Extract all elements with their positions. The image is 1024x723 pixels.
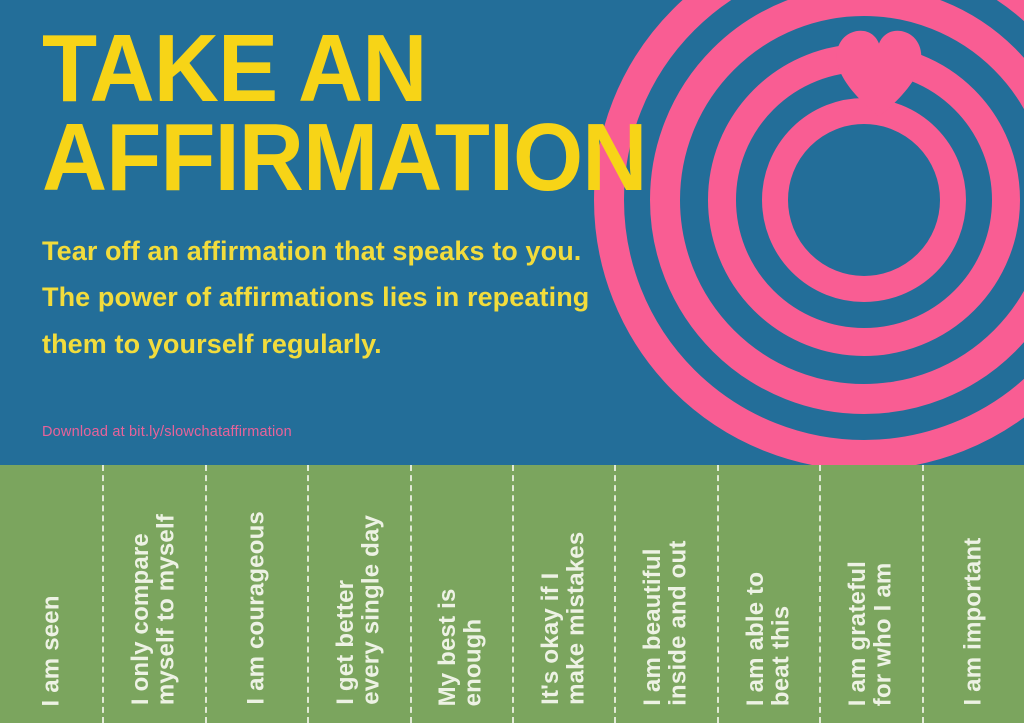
affirmation-text: I am courageous: [243, 511, 268, 705]
heart-icon: [833, 28, 925, 120]
intro-line-1: Tear off an affirmation that speaks to y…: [42, 228, 742, 274]
header-panel: TAKE AN AFFIRMATION Tear off an affirmat…: [0, 0, 1024, 465]
tear-off-strip[interactable]: I am grateful for who I am: [819, 465, 921, 723]
affirmation-text: My best is enough: [435, 589, 486, 707]
tear-off-strip[interactable]: I am courageous: [205, 465, 307, 723]
tear-off-strip[interactable]: I only compare myself to myself: [102, 465, 204, 723]
affirmation-text: I am able to beat this: [743, 572, 794, 706]
affirmation-text: It's okay if I make mistakes: [538, 532, 589, 705]
affirmation-text: I am beautiful inside and out: [640, 540, 691, 705]
affirmation-text: I get better every single day: [333, 515, 384, 705]
tear-off-strip[interactable]: I get better every single day: [307, 465, 409, 723]
download-link[interactable]: Download at bit.ly/slowchataffirmation: [42, 424, 292, 440]
tear-off-strips: I am seen I only compare myself to mysel…: [0, 465, 1024, 723]
page-title: TAKE AN AFFIRMATION: [42, 24, 756, 203]
tear-off-strip[interactable]: My best is enough: [410, 465, 512, 723]
tear-off-strip[interactable]: I am beautiful inside and out: [614, 465, 716, 723]
intro-line-3: them to yourself regularly.: [42, 321, 742, 367]
tear-off-strip[interactable]: It's okay if I make mistakes: [512, 465, 614, 723]
affirmation-poster: TAKE AN AFFIRMATION Tear off an affirmat…: [0, 0, 1024, 723]
tear-off-strip[interactable]: I am important: [922, 465, 1024, 723]
tear-off-strip[interactable]: I am able to beat this: [717, 465, 819, 723]
intro-line-2: The power of affirmations lies in repeat…: [42, 274, 742, 320]
ring-inner: [762, 98, 966, 302]
tear-off-strip[interactable]: I am seen: [0, 465, 102, 723]
intro-paragraph: Tear off an affirmation that speaks to y…: [42, 228, 742, 367]
affirmation-text: I am grateful for who I am: [845, 561, 896, 706]
affirmation-text: I only compare myself to myself: [128, 514, 179, 705]
affirmation-text: I am seen: [38, 596, 63, 707]
affirmation-text: I am important: [960, 537, 985, 705]
